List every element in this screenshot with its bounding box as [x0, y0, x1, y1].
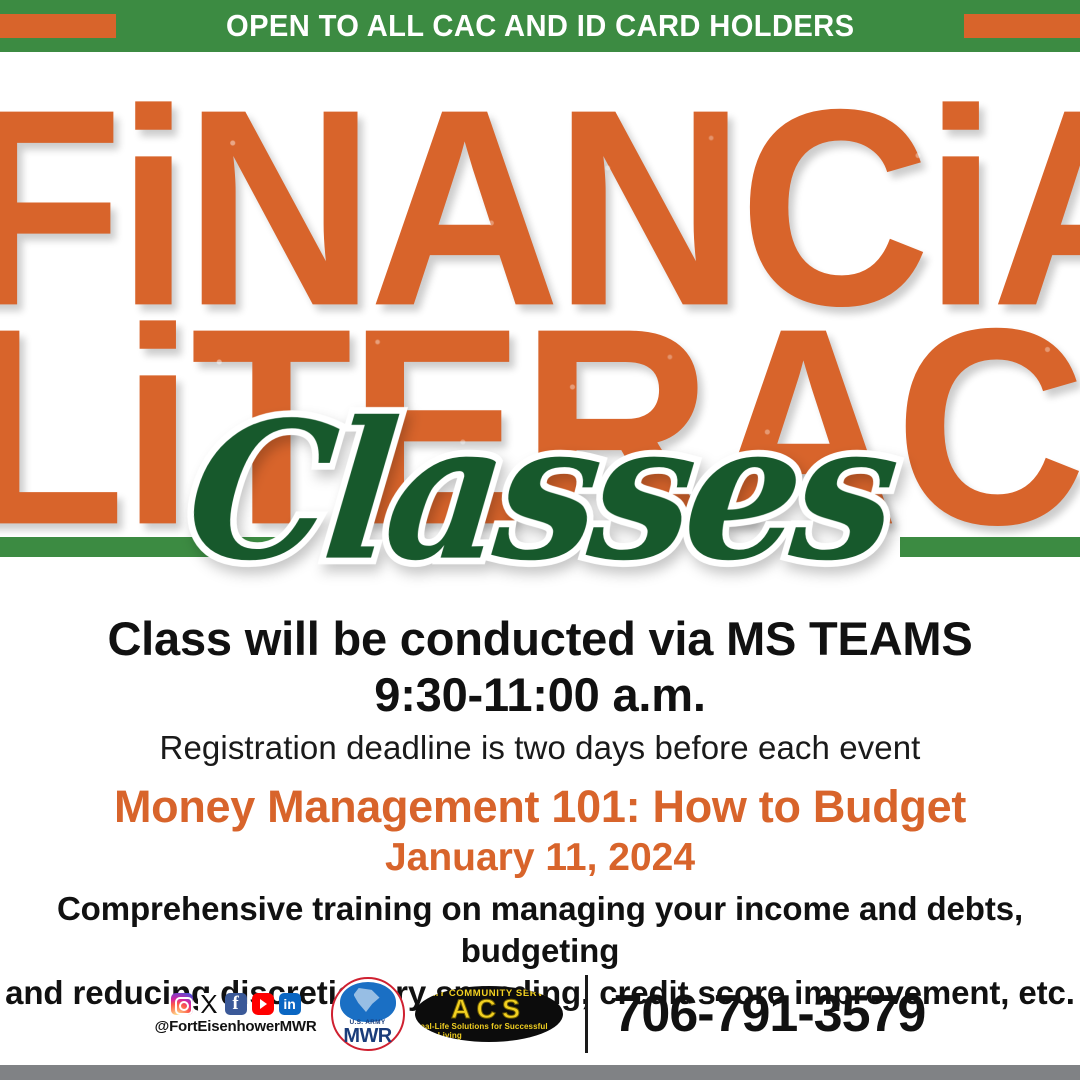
globe-icon	[340, 982, 396, 1022]
hero-title-block: FiNANCiAL LiTERACY	[0, 52, 1080, 612]
contact-phone-number[interactable]: 706-791-3579	[614, 984, 926, 1044]
banner-accent-bar-right	[964, 14, 1080, 38]
class-delivery-line: Class will be conducted via MS TEAMS	[0, 612, 1080, 666]
green-rule-left	[0, 537, 278, 557]
event-description-line-1: Comprehensive training on managing your …	[0, 888, 1080, 972]
acs-tagline: Real-Life Solutions for Successful Army …	[415, 1022, 563, 1040]
youtube-icon[interactable]	[252, 993, 274, 1015]
footer-divider	[585, 975, 588, 1053]
mwr-wordmark: MWR	[331, 1025, 405, 1048]
social-icon-row: f in	[171, 993, 301, 1015]
registration-deadline-line: Registration deadline is two days before…	[0, 723, 1080, 773]
army-community-service-logo: ARMY COMMUNITY SERVICE ACS Real-Life Sol…	[415, 986, 563, 1042]
body-copy-block: Class will be conducted via MS TEAMS 9:3…	[0, 612, 1080, 772]
footer: f in @FortEisenhowerMWR U.S. ARMY MWR AR…	[0, 966, 1080, 1062]
hero-headline-literacy-text: LiTERACY	[0, 287, 1080, 567]
facebook-icon[interactable]: f	[225, 993, 247, 1015]
class-time-line: 9:30-11:00 a.m.	[0, 666, 1080, 723]
event-title: Money Management 101: How to Budget	[0, 780, 1080, 833]
hero-headline-literacy: LiTERACY	[0, 287, 1080, 537]
banner-accent-bar-left	[0, 14, 116, 38]
x-twitter-icon[interactable]	[198, 993, 220, 1015]
social-handle[interactable]: @FortEisenhowerMWR	[155, 1018, 317, 1035]
banner-text: OPEN TO ALL CAC AND ID CARD HOLDERS	[226, 8, 854, 44]
acs-wordmark: ACS	[451, 996, 526, 1023]
event-date: January 11, 2024	[0, 833, 1080, 884]
social-block: f in @FortEisenhowerMWR	[155, 993, 317, 1035]
top-banner: OPEN TO ALL CAC AND ID CARD HOLDERS	[0, 0, 1080, 52]
bottom-gray-strip	[0, 1065, 1080, 1080]
linkedin-icon[interactable]: in	[279, 993, 301, 1015]
green-rule-right	[900, 537, 1080, 557]
instagram-icon[interactable]	[171, 993, 193, 1015]
us-army-mwr-logo: U.S. ARMY MWR	[331, 977, 405, 1051]
